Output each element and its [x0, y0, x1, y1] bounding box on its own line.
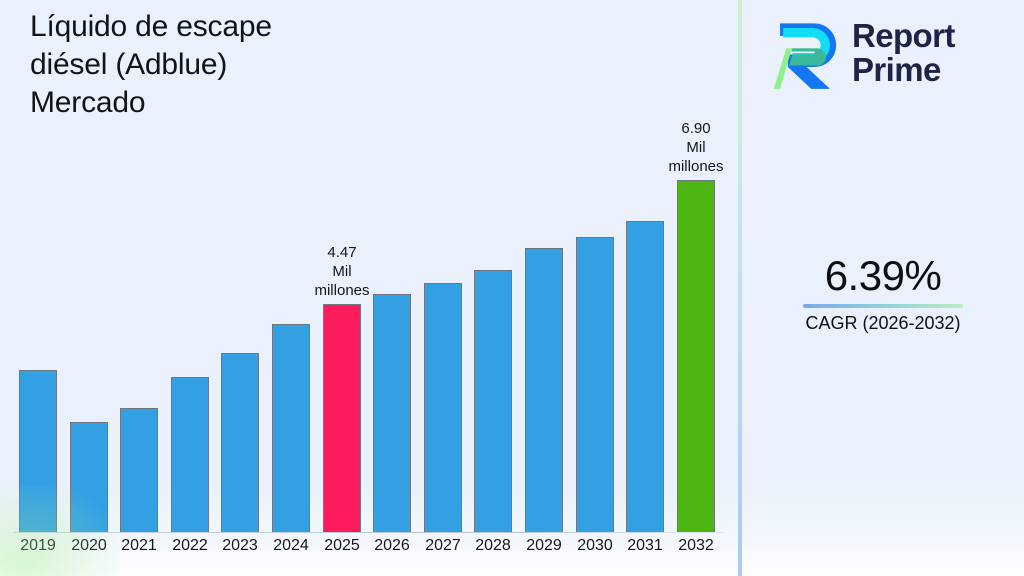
x-tick-2031: 2031 — [618, 537, 672, 555]
x-tick-2019: 2019 — [11, 537, 65, 555]
value-label-2032: 6.90 Mil millones — [648, 119, 744, 176]
bar-2032[interactable] — [677, 180, 715, 532]
bar-2029[interactable] — [525, 248, 563, 532]
bar-2020[interactable] — [70, 422, 108, 532]
bar-2031[interactable] — [626, 221, 664, 532]
x-tick-2025: 2025 — [315, 537, 369, 555]
x-tick-2024: 2024 — [264, 537, 318, 555]
bar-2028[interactable] — [474, 270, 512, 532]
x-axis-line — [14, 532, 725, 533]
cagr-block: 6.39% CAGR (2026-2032) — [742, 252, 1024, 335]
x-tick-2027: 2027 — [416, 537, 470, 555]
x-tick-2020: 2020 — [62, 537, 116, 555]
bar-chart-plot-area: 20192020202120222023202420254.47 Mil mil… — [0, 0, 740, 576]
cagr-caption: CAGR (2026-2032) — [742, 311, 1024, 335]
x-tick-2028: 2028 — [466, 537, 520, 555]
cagr-value: 6.39% — [742, 252, 1024, 300]
bar-2025[interactable] — [323, 304, 361, 532]
bar-2027[interactable] — [424, 283, 462, 532]
bar-2021[interactable] — [120, 408, 158, 532]
bar-2022[interactable] — [171, 377, 209, 532]
bar-2019[interactable] — [19, 370, 57, 532]
report-prime-logo[interactable]: Report Prime — [766, 10, 1016, 96]
value-label-2025: 4.47 Mil millones — [294, 243, 390, 300]
infographic-root: Líquido de escape diésel (Adblue) Mercad… — [0, 0, 1024, 576]
x-tick-2032: 2032 — [669, 537, 723, 555]
x-tick-2030: 2030 — [568, 537, 622, 555]
bar-2030[interactable] — [576, 237, 614, 532]
bar-2026[interactable] — [373, 294, 411, 532]
x-tick-2029: 2029 — [517, 537, 571, 555]
x-tick-2021: 2021 — [112, 537, 166, 555]
x-tick-2026: 2026 — [365, 537, 419, 555]
x-tick-2023: 2023 — [213, 537, 267, 555]
cagr-divider-rule — [803, 304, 963, 308]
bar-2024[interactable] — [272, 324, 310, 532]
report-prime-logo-text: Report Prime — [852, 19, 955, 87]
bar-2023[interactable] — [221, 353, 259, 532]
report-prime-logo-mark — [766, 14, 844, 92]
chart-panel: Líquido de escape diésel (Adblue) Mercad… — [0, 0, 740, 576]
brand-panel: Report Prime 6.39% CAGR (2026-2032) — [742, 0, 1024, 576]
x-tick-2022: 2022 — [163, 537, 217, 555]
